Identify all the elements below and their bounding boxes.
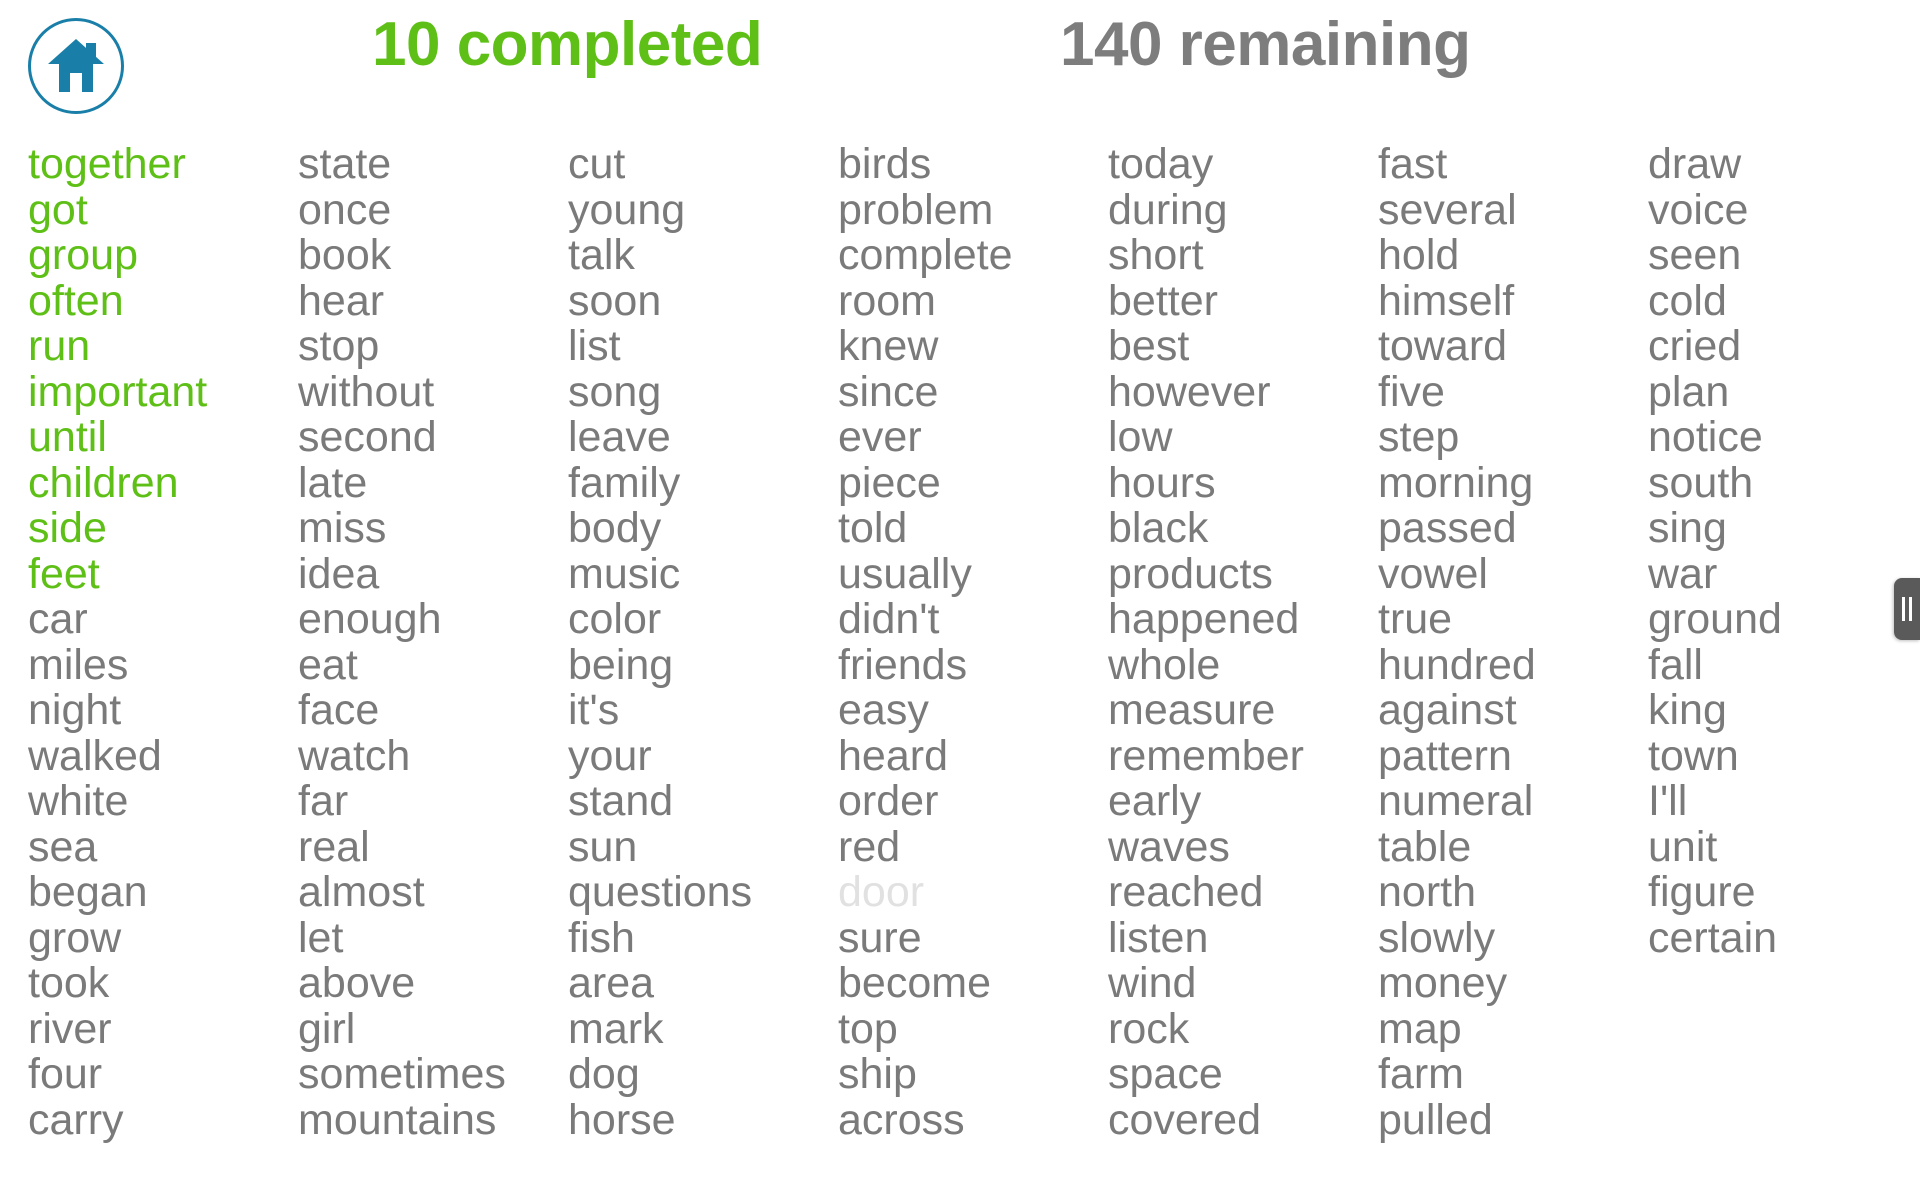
word-item[interactable]: vowel [1378,552,1648,598]
word-item[interactable]: rock [1108,1007,1378,1053]
word-item[interactable]: enough [298,597,568,643]
word-item[interactable]: above [298,961,568,1007]
word-item[interactable]: often [28,279,298,325]
word-item[interactable]: measure [1108,688,1378,734]
word-item[interactable]: north [1378,870,1648,916]
word-item[interactable]: plan [1648,370,1918,416]
word-item[interactable]: face [298,688,568,734]
word-item[interactable]: idea [298,552,568,598]
word-item[interactable]: group [28,233,298,279]
word-item[interactable]: real [298,825,568,871]
word-item[interactable]: during [1108,188,1378,234]
word-item[interactable]: today [1108,142,1378,188]
word-item[interactable]: order [838,779,1108,825]
word-item[interactable]: being [568,643,838,689]
word-item[interactable]: seen [1648,233,1918,279]
word-item[interactable]: ground [1648,597,1918,643]
word-item[interactable]: book [298,233,568,279]
word-item[interactable]: low [1108,415,1378,461]
word-item[interactable]: cold [1648,279,1918,325]
word-item[interactable]: river [28,1007,298,1053]
word-item[interactable]: products [1108,552,1378,598]
word-item[interactable]: town [1648,734,1918,780]
word-item[interactable]: state [298,142,568,188]
word-column-3: birdsproblemcompleteroomknewsinceeverpie… [838,142,1108,1143]
word-item[interactable]: war [1648,552,1918,598]
word-item[interactable]: short [1108,233,1378,279]
word-item[interactable]: black [1108,506,1378,552]
word-item[interactable]: hundred [1378,643,1648,689]
word-item[interactable]: five [1378,370,1648,416]
app-root: 10 completed 140 remaining togethergotgr… [0,0,1920,1200]
word-item[interactable]: top [838,1007,1108,1053]
word-item[interactable]: passed [1378,506,1648,552]
word-item[interactable]: toward [1378,324,1648,370]
word-item[interactable]: began [28,870,298,916]
word-item[interactable]: true [1378,597,1648,643]
word-item[interactable]: feet [28,552,298,598]
word-item[interactable]: better [1108,279,1378,325]
word-item[interactable]: song [568,370,838,416]
word-item[interactable]: numeral [1378,779,1648,825]
word-item[interactable]: hours [1108,461,1378,507]
word-item[interactable]: ship [838,1052,1108,1098]
remaining-count-label: 140 remaining [1060,14,1470,76]
word-item[interactable]: dog [568,1052,838,1098]
word-item[interactable]: happened [1108,597,1378,643]
word-item[interactable]: cut [568,142,838,188]
word-item[interactable]: four [28,1052,298,1098]
word-item[interactable]: body [568,506,838,552]
word-item[interactable]: sea [28,825,298,871]
word-item[interactable]: however [1108,370,1378,416]
word-item[interactable]: slowly [1378,916,1648,962]
word-item[interactable]: night [28,688,298,734]
word-item[interactable]: wind [1108,961,1378,1007]
word-item[interactable]: horse [568,1098,838,1144]
word-item[interactable]: space [1108,1052,1378,1098]
word-item[interactable]: himself [1378,279,1648,325]
word-item[interactable]: hear [298,279,568,325]
word-item[interactable]: your [568,734,838,780]
word-item[interactable]: children [28,461,298,507]
word-item[interactable]: young [568,188,838,234]
word-item[interactable]: heard [838,734,1108,780]
word-item[interactable]: room [838,279,1108,325]
word-item[interactable]: without [298,370,568,416]
word-item[interactable]: together [28,142,298,188]
word-item[interactable]: since [838,370,1108,416]
word-item[interactable]: fish [568,916,838,962]
word-item[interactable]: white [28,779,298,825]
word-item[interactable]: farm [1378,1052,1648,1098]
word-item[interactable]: late [298,461,568,507]
word-item[interactable]: far [298,779,568,825]
word-item[interactable]: miles [28,643,298,689]
word-item[interactable]: step [1378,415,1648,461]
word-item[interactable]: sometimes [298,1052,568,1098]
word-item[interactable]: let [298,916,568,962]
word-item[interactable]: map [1378,1007,1648,1053]
word-item[interactable]: figure [1648,870,1918,916]
word-item[interactable]: piece [838,461,1108,507]
word-item[interactable]: hold [1378,233,1648,279]
word-item[interactable]: grow [28,916,298,962]
word-item[interactable]: south [1648,461,1918,507]
word-column-2: cutyoungtalksoonlistsongleavefamilybodym… [568,142,838,1143]
word-item[interactable]: fast [1378,142,1648,188]
word-item[interactable]: unit [1648,825,1918,871]
word-item[interactable]: king [1648,688,1918,734]
word-item[interactable]: stand [568,779,838,825]
word-item[interactable]: waves [1108,825,1378,871]
word-item[interactable]: it's [568,688,838,734]
pause-handle-icon [1902,597,1912,621]
word-item[interactable]: stop [298,324,568,370]
word-item[interactable]: area [568,961,838,1007]
word-item[interactable]: become [838,961,1108,1007]
word-column-4: todayduringshortbetterbesthoweverlowhour… [1108,142,1378,1143]
word-item[interactable]: usually [838,552,1108,598]
word-item[interactable]: until [28,415,298,461]
word-item[interactable]: across [838,1098,1108,1144]
word-item[interactable]: talk [568,233,838,279]
word-column-6: drawvoiceseencoldcriedplannoticesouthsin… [1648,142,1918,961]
word-item[interactable]: mountains [298,1098,568,1144]
word-column-5: fastseveralholdhimselftowardfivestepmorn… [1378,142,1648,1143]
word-item[interactable]: best [1108,324,1378,370]
word-item[interactable]: pattern [1378,734,1648,780]
word-item[interactable]: pulled [1378,1098,1648,1144]
word-item[interactable]: easy [838,688,1108,734]
word-item[interactable]: remember [1108,734,1378,780]
word-item[interactable]: important [28,370,298,416]
word-item[interactable]: birds [838,142,1108,188]
word-item[interactable]: covered [1108,1098,1378,1144]
word-item[interactable]: reached [1108,870,1378,916]
word-item[interactable]: money [1378,961,1648,1007]
word-item[interactable]: notice [1648,415,1918,461]
word-item[interactable]: complete [838,233,1108,279]
word-item[interactable]: once [298,188,568,234]
word-item[interactable]: draw [1648,142,1918,188]
word-item[interactable]: didn't [838,597,1108,643]
word-item[interactable]: got [28,188,298,234]
completed-count-label: 10 completed [372,14,762,76]
word-item[interactable]: cried [1648,324,1918,370]
word-item[interactable]: eat [298,643,568,689]
word-item[interactable]: took [28,961,298,1007]
word-item[interactable]: car [28,597,298,643]
word-item[interactable]: questions [568,870,838,916]
word-item[interactable]: carry [28,1098,298,1144]
header-bar: 10 completed 140 remaining [0,0,1920,140]
word-item[interactable]: side [28,506,298,552]
word-item[interactable]: watch [298,734,568,780]
word-item[interactable]: early [1108,779,1378,825]
word-column-1: stateoncebookhearstopwithoutsecondlatemi… [298,142,568,1143]
word-item[interactable]: sure [838,916,1108,962]
word-item[interactable]: problem [838,188,1108,234]
side-panel-handle[interactable] [1894,578,1920,640]
word-item[interactable]: against [1378,688,1648,734]
word-item[interactable]: mark [568,1007,838,1053]
word-item[interactable]: several [1378,188,1648,234]
word-item[interactable]: girl [298,1007,568,1053]
word-item[interactable]: red [838,825,1108,871]
word-item[interactable]: knew [838,324,1108,370]
word-item[interactable]: whole [1108,643,1378,689]
word-item[interactable]: certain [1648,916,1918,962]
word-item[interactable]: listen [1108,916,1378,962]
word-item[interactable]: sing [1648,506,1918,552]
word-item[interactable]: ever [838,415,1108,461]
word-item[interactable]: color [568,597,838,643]
word-grid: togethergotgroupoftenrunimportantuntilch… [28,142,1898,1143]
word-item[interactable]: morning [1378,461,1648,507]
word-item[interactable]: walked [28,734,298,780]
home-button[interactable] [28,18,124,114]
word-item[interactable]: run [28,324,298,370]
word-item[interactable]: friends [838,643,1108,689]
word-item[interactable]: miss [298,506,568,552]
word-item[interactable]: second [298,415,568,461]
word-item[interactable]: fall [1648,643,1918,689]
word-item[interactable]: leave [568,415,838,461]
word-item[interactable]: soon [568,279,838,325]
word-item[interactable]: door [838,870,1108,916]
word-item[interactable]: table [1378,825,1648,871]
word-item[interactable]: voice [1648,188,1918,234]
home-icon [46,37,106,95]
word-item[interactable]: told [838,506,1108,552]
word-item[interactable]: music [568,552,838,598]
word-item[interactable]: I'll [1648,779,1918,825]
word-item[interactable]: almost [298,870,568,916]
word-column-0: togethergotgroupoftenrunimportantuntilch… [28,142,298,1143]
word-item[interactable]: list [568,324,838,370]
word-item[interactable]: sun [568,825,838,871]
word-item[interactable]: family [568,461,838,507]
